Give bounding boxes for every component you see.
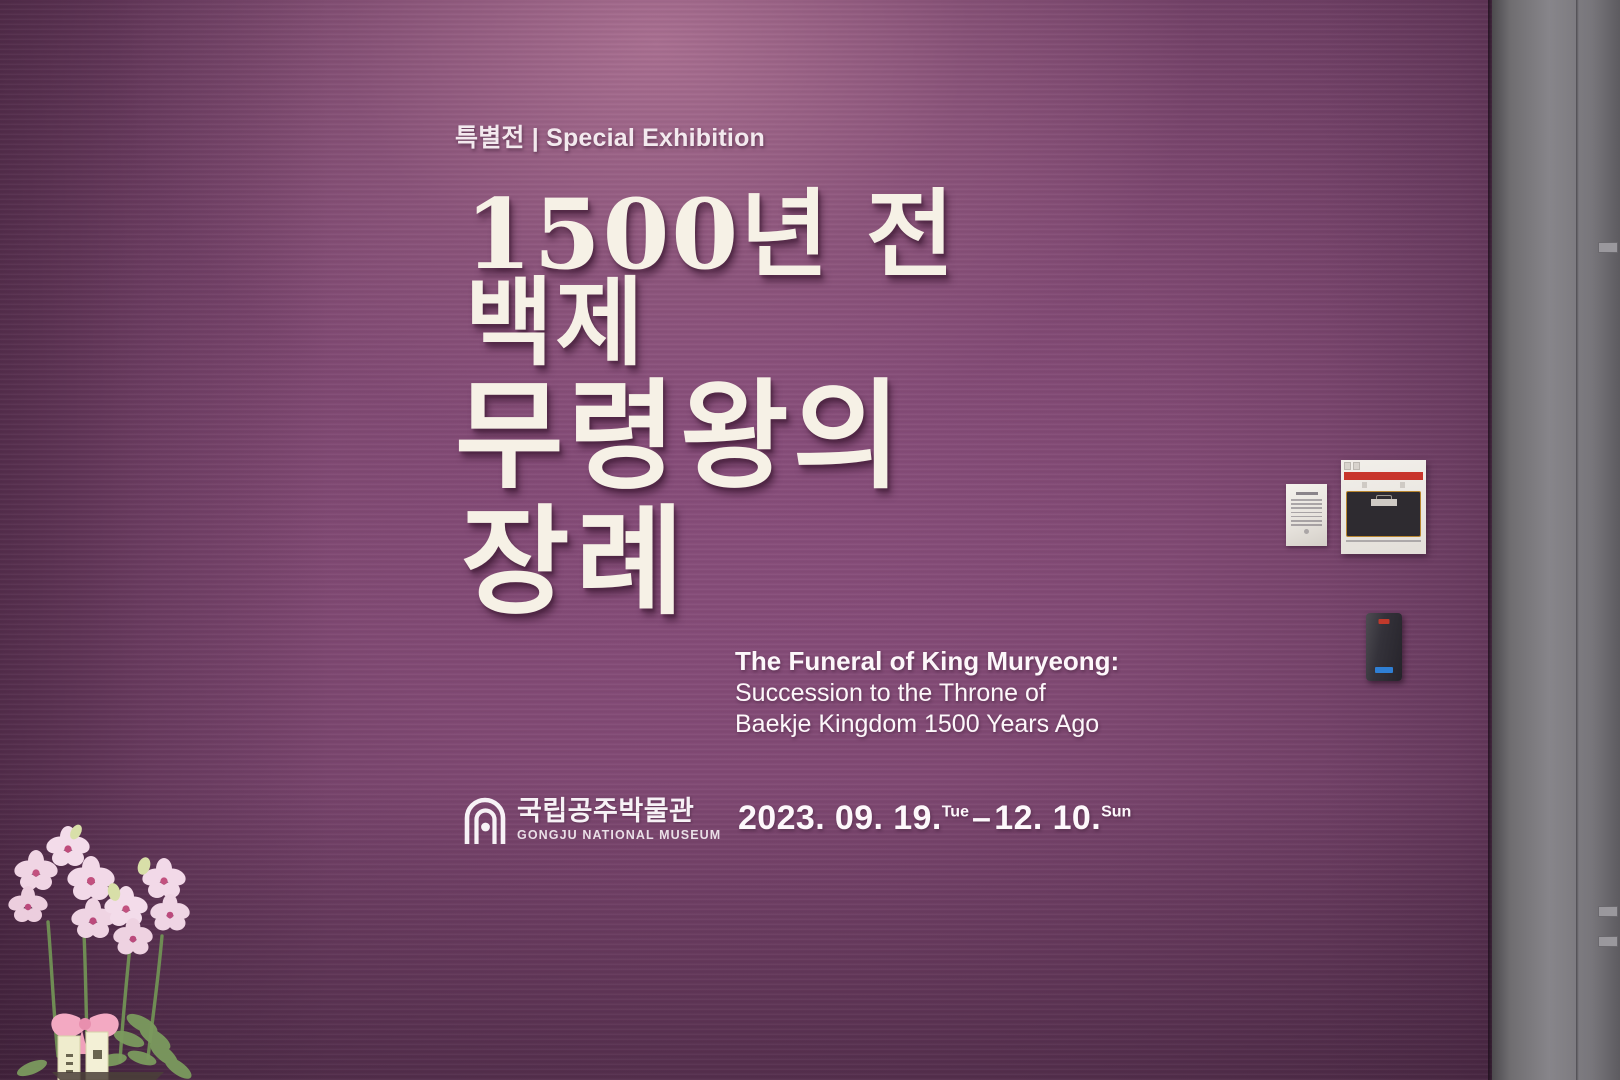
red-header-notice-panel[interactable] <box>1341 460 1426 554</box>
notice-text-line <box>1291 524 1322 526</box>
museum-logo-text: 국립공주박물관 GONGJU NATIONAL MUSEUM <box>517 797 721 842</box>
gongju-museum-arch-icon <box>463 796 506 844</box>
notice-panel-chip <box>1362 482 1367 488</box>
exhibition-dates: 2023. 09. 19.Tue–12. 10.Sun <box>738 799 1131 838</box>
exhibition-title: 1500년 전 백제 무령왕의 장례 <box>455 188 975 619</box>
notice-text-line <box>1291 503 1322 505</box>
notice-panel-tabs <box>1341 460 1426 470</box>
date-separator: – <box>969 799 994 837</box>
access-card-reader[interactable] <box>1366 613 1402 681</box>
wall-return-seam <box>1576 0 1579 1080</box>
notice-panel-tab <box>1344 462 1351 470</box>
date-start: 2023. 09. 19. <box>738 799 942 837</box>
subtitle-line-2: Succession to the Throne of <box>735 678 1155 710</box>
notice-text-line <box>1291 507 1322 509</box>
notice-text-line <box>1291 516 1322 518</box>
date-end-weekday: Sun <box>1101 804 1131 821</box>
card-reader-touch-strip[interactable] <box>1375 667 1393 673</box>
museum-name-english: GONGJU NATIONAL MUSEUM <box>517 828 721 843</box>
subtitle-main: The Funeral of King Muryeong: <box>735 646 1155 678</box>
exhibition-subtitle: The Funeral of King Muryeong: Succession… <box>735 646 1155 741</box>
notice-seal-icon <box>1304 529 1309 534</box>
notice-panel-graphic-text <box>1347 520 1420 525</box>
museum-name-korean: 국립공주박물관 <box>517 797 721 825</box>
notice-panel-footer-line <box>1346 540 1421 542</box>
notice-panel-graphic-bar <box>1371 499 1397 506</box>
title-line-4: 장례 <box>461 504 975 620</box>
white-notice-sheet[interactable] <box>1286 484 1327 546</box>
card-reader-led-icon <box>1379 619 1390 624</box>
date-start-weekday: Tue <box>942 804 969 821</box>
notice-text-line <box>1291 512 1322 514</box>
date-end: 12. 10. <box>994 799 1101 837</box>
notice-panel-chips <box>1345 482 1422 488</box>
exhibition-poster: 특별전 | Special Exhibition 1500년 전 백제 무령왕의… <box>455 118 1155 154</box>
grey-wall-return <box>1492 0 1620 1080</box>
notice-panel-tab <box>1353 462 1360 470</box>
title-line-3: 무령왕의 <box>455 378 975 494</box>
exhibition-eyebrow-label: 특별전 | Special Exhibition <box>455 118 1155 154</box>
notice-panel-banner <box>1344 472 1423 480</box>
museum-logo: 국립공주박물관 GONGJU NATIONAL MUSEUM <box>463 796 721 844</box>
exhibition-wall-scene: 특별전 | Special Exhibition 1500년 전 백제 무령왕의… <box>0 0 1620 1080</box>
orchid-plant <box>0 810 222 1080</box>
wall-plate-lower-2 <box>1598 936 1618 947</box>
notice-title-bar <box>1296 492 1318 495</box>
notice-panel-graphic <box>1346 491 1421 537</box>
wall-plate-lower-1 <box>1598 906 1618 917</box>
notice-panel-graphic-alert <box>1347 512 1420 517</box>
notice-text-line <box>1291 520 1322 522</box>
notice-text-line <box>1291 499 1322 501</box>
wall-plate-upper <box>1598 242 1618 253</box>
subtitle-line-3: Baekje Kingdom 1500 Years Ago <box>735 709 1155 741</box>
notice-panel-chip <box>1400 482 1405 488</box>
